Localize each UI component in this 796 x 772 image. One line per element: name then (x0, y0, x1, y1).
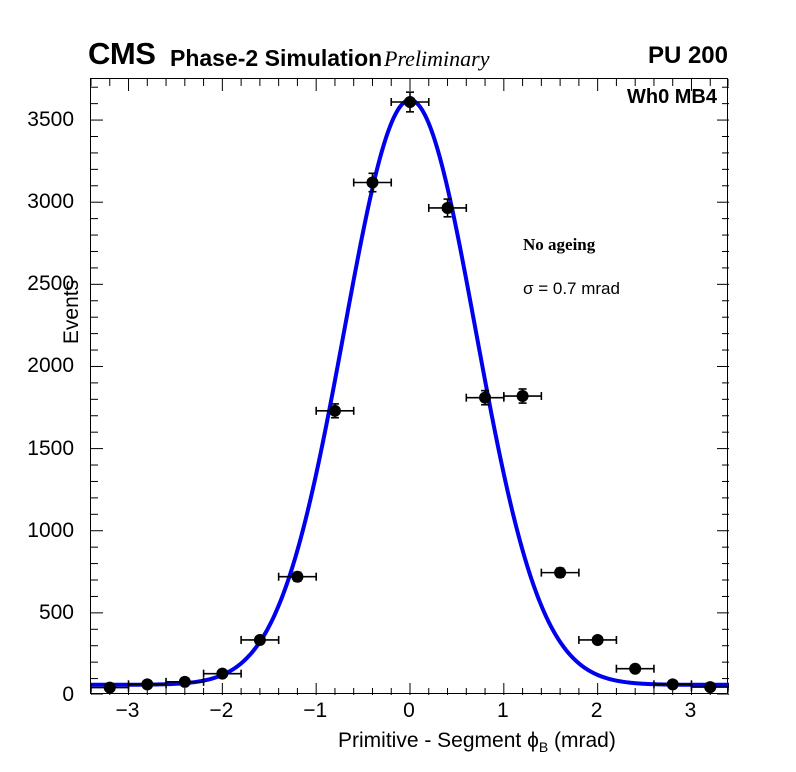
data-point (479, 392, 491, 404)
y-tick-label: 1000 (27, 520, 74, 541)
y-tick-label: 3000 (27, 191, 74, 212)
data-points-layer (91, 92, 729, 693)
data-point (216, 668, 228, 680)
data-point (592, 634, 604, 646)
data-point (366, 176, 378, 188)
pileup-label: PU 200 (648, 42, 728, 70)
data-point (179, 676, 191, 688)
chamber-label: Wh0 MB4 (627, 86, 717, 109)
y-tick-label: 2500 (27, 273, 74, 294)
phi-symbol: ϕ (527, 729, 539, 752)
x-axis-title-unit: (mrad) (548, 729, 616, 752)
sigma-label: σ = 0.7 mrad (523, 279, 620, 299)
simulation-label: Phase-2 Simulation (170, 44, 382, 72)
ageing-label: No ageing (523, 235, 595, 255)
data-point (554, 567, 566, 579)
y-axis-tick-labels: 0500100015002000250030003500 (0, 78, 84, 694)
x-tick-label: −3 (88, 700, 168, 721)
data-point (104, 682, 116, 694)
data-point (329, 405, 341, 417)
data-point (291, 571, 303, 583)
phi-subscript: B (539, 739, 548, 755)
plot-frame: Wh0 MB4 No ageing σ = 0.7 mrad (90, 78, 728, 694)
x-axis-title: Primitive - Segment ϕB (mrad) (338, 729, 616, 753)
x-axis-tick-labels: −3−2−10123 (90, 700, 728, 726)
x-tick-label: 1 (463, 700, 543, 721)
x-tick-label: 2 (557, 700, 637, 721)
x-tick-label: −1 (275, 700, 355, 721)
plot-header: CMS Phase-2 Simulation Preliminary PU 20… (88, 40, 728, 72)
x-axis-title-prefix: Primitive - Segment (338, 729, 527, 752)
fit-curve-layer (91, 100, 729, 685)
plot-canvas (91, 79, 729, 695)
cms-logo: CMS (88, 38, 155, 70)
preliminary-label: Preliminary (384, 45, 490, 73)
y-tick-label: 1500 (27, 438, 74, 459)
data-point (141, 678, 153, 690)
x-tick-label: −2 (181, 700, 261, 721)
data-point (667, 678, 679, 690)
y-tick-label: 500 (39, 602, 74, 623)
y-tick-label: 2000 (27, 355, 74, 376)
data-point (704, 681, 716, 693)
y-tick-label: 0 (62, 684, 74, 705)
data-point (442, 202, 454, 214)
data-point (254, 634, 266, 646)
y-tick-label: 3500 (27, 109, 74, 130)
x-tick-label: 0 (369, 700, 449, 721)
data-point (517, 390, 529, 402)
data-point (629, 663, 641, 675)
data-point (404, 96, 416, 108)
axis-ticks-layer (91, 79, 729, 695)
x-tick-label: 3 (650, 700, 730, 721)
